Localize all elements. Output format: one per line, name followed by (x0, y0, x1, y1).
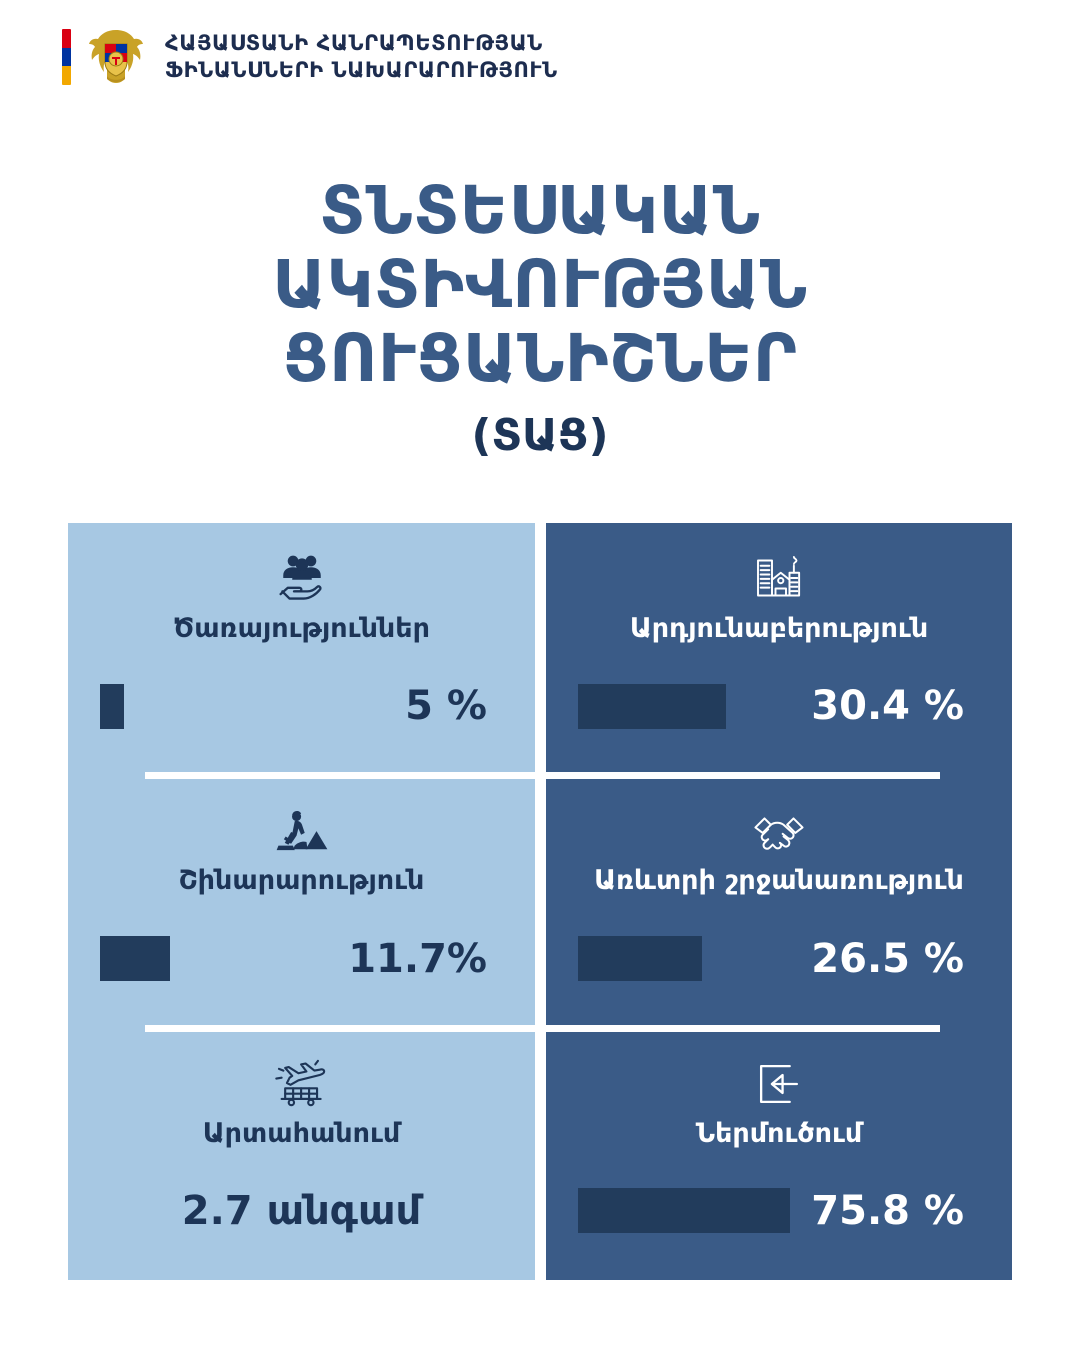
people-in-hand-icon (273, 541, 331, 603)
indicator-card-construction: Շինարարություն 11.7% (68, 775, 535, 1027)
flag-segment-orange (62, 66, 71, 85)
ministry-name-line2: ՖԻՆԱՆՍՆԵՐԻ ՆԱԽԱՐԱՐՈՒԹՅՈՒՆ (165, 57, 558, 84)
page-header: ՀԱՅԱՍՏԱՆԻ ՀԱՆՐԱՊԵՏՈՒԹՅԱՆ ՖԻՆԱՆՍՆԵՐԻ ՆԱԽԱ… (0, 0, 1080, 82)
handshake-icon (750, 793, 808, 855)
indicator-value-row: 5 % (68, 683, 535, 729)
factory-icon (751, 541, 807, 603)
flag-segment-blue (62, 48, 71, 67)
indicator-value: 30.4 % (811, 683, 964, 729)
import-arrow-icon (754, 1046, 804, 1108)
indicator-value-row: 2.7 անգամ (68, 1188, 535, 1234)
construction-worker-icon (273, 793, 331, 855)
indicator-value: 2.7 անգամ (182, 1188, 421, 1234)
indicator-card-import: Ներմուծում 75.8 % (546, 1028, 1012, 1280)
armenian-flag-stripe (62, 29, 71, 85)
armenia-coat-of-arms-icon (85, 26, 147, 88)
indicator-value-row: 30.4 % (546, 683, 1012, 729)
indicator-bar (578, 1188, 790, 1233)
indicator-value-row: 26.5 % (546, 936, 1012, 982)
indicator-value-row: 75.8 % (546, 1188, 1012, 1234)
indicator-card-export: Արտահանում 2.7 անգամ (68, 1028, 535, 1280)
indicator-card-industry: Արդյունաբերություն 30.4 % (546, 523, 1012, 775)
indicator-card-services: Ծառայություններ 5 % (68, 523, 535, 775)
indicator-label: Արդյունաբերություն (630, 613, 928, 644)
indicator-bar (100, 936, 170, 981)
indicator-label: Շինարարություն (179, 865, 425, 896)
indicator-bar (578, 684, 726, 729)
indicator-label: Ներմուծում (696, 1118, 862, 1149)
indicator-card-trade-turnover: Առևտրի շրջանառություն 26.5 % (546, 775, 1012, 1027)
air-cargo-icon (271, 1046, 333, 1108)
ministry-name: ՀԱՅԱՍՏԱՆԻ ՀԱՆՐԱՊԵՏՈՒԹՅԱՆ ՖԻՆԱՆՍՆԵՐԻ ՆԱԽԱ… (165, 30, 558, 84)
ministry-name-line1: ՀԱՅԱՍՏԱՆԻ ՀԱՆՐԱՊԵՏՈՒԹՅԱՆ (165, 30, 558, 57)
indicator-label: Առևտրի շրջանառություն (594, 865, 964, 896)
page-title-line2: ՑՈՒՑԱՆԻՇՆԵՐ (40, 322, 1040, 396)
indicator-value: 75.8 % (811, 1188, 964, 1234)
indicator-bar (578, 936, 702, 981)
indicators-column-left: Ծառայություններ 5 % (68, 523, 535, 1280)
indicator-value: 5 % (405, 683, 487, 729)
indicator-label: Ծառայություններ (173, 613, 430, 644)
page-title: ՏՆՏԵՍԱԿԱՆ ԱԿՏԻՎՈՒԹՅԱՆ ՑՈՒՑԱՆԻՇՆԵՐ (ՏԱՑ) (0, 174, 1080, 461)
indicator-value: 26.5 % (811, 936, 964, 982)
indicator-bar (100, 684, 124, 729)
indicators-column-right: Արդյունաբերություն 30.4 % (546, 523, 1012, 1280)
indicator-label: Արտահանում (203, 1118, 401, 1149)
indicator-value-row: 11.7% (68, 936, 535, 982)
indicators-grid: Ծառայություններ 5 % (68, 523, 1012, 1280)
flag-segment-red (62, 29, 71, 48)
indicator-value: 11.7% (348, 936, 487, 982)
page-title-abbreviation: (ՏԱՑ) (40, 410, 1040, 461)
page-title-line1: ՏՆՏԵՍԱԿԱՆ ԱԿՏԻՎՈՒԹՅԱՆ (40, 174, 1040, 322)
